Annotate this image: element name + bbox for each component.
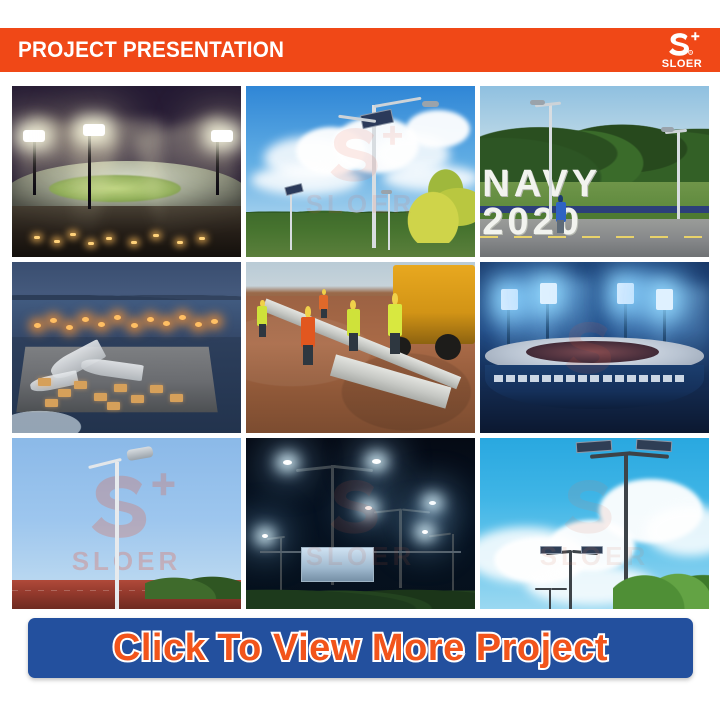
- page-title: PROJECT PRESENTATION: [18, 39, 284, 61]
- view-more-projects-label: Click To View More Project: [113, 627, 608, 670]
- svg-text:R: R: [690, 50, 692, 54]
- double-arm-solar-lights-image: SLOER: [480, 438, 709, 609]
- gallery-item-blue-stadium-night-floodlights[interactable]: [480, 262, 709, 433]
- gallery-item-night-double-arm-street-lights[interactable]: SLOER: [246, 438, 475, 609]
- brand-logo: R SLOER: [654, 28, 710, 72]
- view-more-projects-button[interactable]: Click To View More Project: [28, 618, 693, 678]
- night-stadium-image: [12, 86, 241, 257]
- sloer-s-plus-logo-icon: R: [662, 31, 702, 58]
- project-image-grid: SLOER NAVY 2020: [12, 86, 709, 609]
- gallery-item-navy-2020-monument-street-lights[interactable]: NAVY 2020: [480, 86, 709, 257]
- crane-truck: [393, 265, 475, 344]
- night-street-lights-image: SLOER: [246, 438, 475, 609]
- gallery-item-double-arm-solar-lights-clouds[interactable]: SLOER: [480, 438, 709, 609]
- solar-street-light-image: SLOER: [246, 86, 475, 257]
- brand-name: SLOER: [662, 59, 702, 70]
- gallery-item-pole-installation-site-workers[interactable]: [246, 262, 475, 433]
- gallery-item-single-street-light-clear-sky[interactable]: SLOER: [12, 438, 241, 609]
- pole-installation-image: [246, 262, 475, 433]
- gallery-item-harbour-port-lighting-dusk[interactable]: [12, 262, 241, 433]
- gallery-item-solar-street-light-blue-sky[interactable]: SLOER: [246, 86, 475, 257]
- monument-letters: NAVY 2020: [482, 165, 709, 241]
- project-presentation-page: PROJECT PRESENTATION R SLOER: [0, 0, 720, 720]
- header-bar: PROJECT PRESENTATION R SLOER: [0, 28, 720, 72]
- blue-stadium-image: [480, 262, 709, 433]
- single-street-light-image: SLOER: [12, 438, 241, 609]
- gallery-item-night-stadium-floodlights[interactable]: [12, 86, 241, 257]
- harbour-port-image: [12, 262, 241, 433]
- navy-2020-image: NAVY 2020: [480, 86, 709, 257]
